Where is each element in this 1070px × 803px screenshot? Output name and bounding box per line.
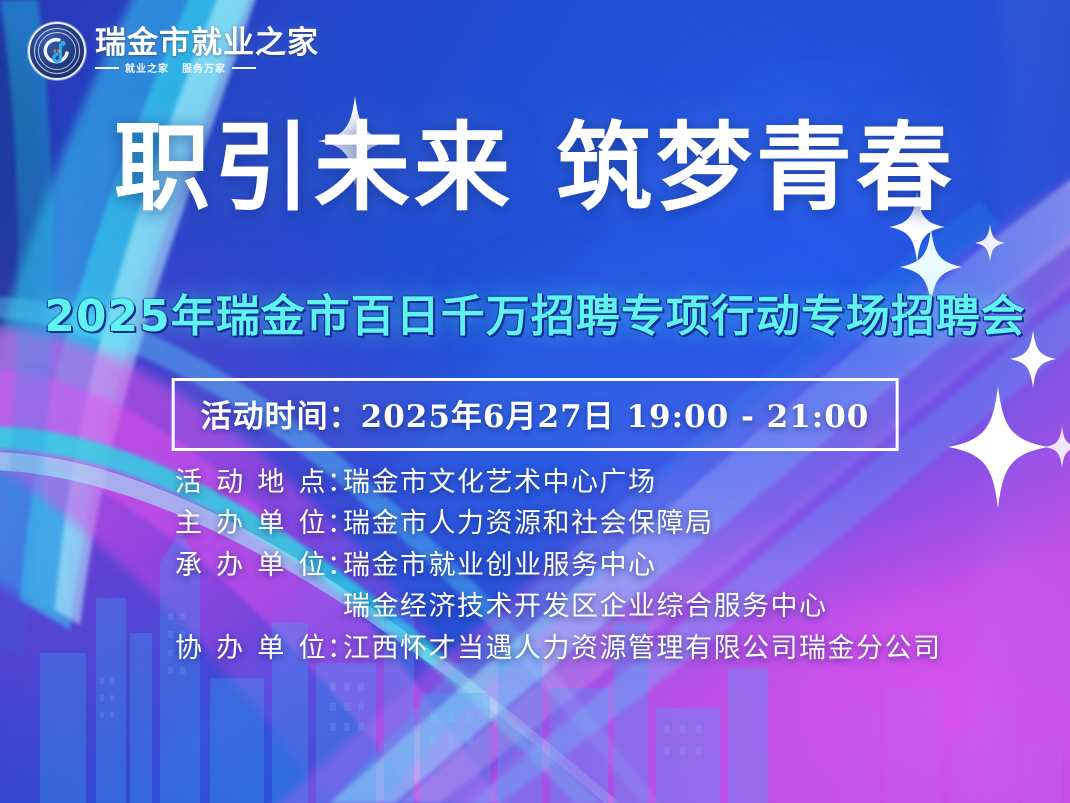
tagline-right: 服务万家 (182, 60, 226, 75)
info-row-coorganizer: 协办单位 ： 江西怀才当遇人力资源管理有限公司瑞金分公司 (175, 632, 895, 665)
poster-canvas: RJS 瑞金市就业之家 就业之家 服务万家 职引未来筑梦青春 2025年瑞金市百… (0, 0, 1070, 803)
info-value: 瑞金市就业创业服务中心 (343, 549, 895, 582)
tagline-rule-left (95, 67, 119, 69)
info-value: 瑞金市文化艺术中心广场 (343, 466, 895, 499)
brand-tagline: 就业之家 服务万家 (95, 60, 319, 75)
info-label: 承办单位 (175, 549, 327, 582)
brand-title: 瑞金市就业之家 (95, 27, 319, 60)
brand-logo: RJS 瑞金市就业之家 就业之家 服务万家 (28, 22, 319, 80)
info-label: 活动地点 (175, 466, 327, 499)
tagline-left: 就业之家 (125, 60, 169, 75)
info-row-organizer: 主办单位 ： 瑞金市人力资源和社会保障局 (175, 507, 895, 540)
info-row-venue: 活动地点 ： 瑞金市文化艺术中心广场 (175, 466, 895, 499)
svg-text:RJS: RJS (53, 49, 60, 55)
headline-part-1: 职引未来 (114, 112, 514, 224)
info-row-host-second: 承办单位 ： 瑞金经济技术开发区企业综合服务中心 (175, 590, 895, 623)
info-value: 瑞金经济技术开发区企业综合服务中心 (343, 590, 895, 623)
info-colon: ： (327, 507, 343, 540)
info-row-host: 承办单位 ： 瑞金市就业创业服务中心 (175, 549, 895, 582)
info-colon: ： (327, 549, 343, 582)
headline-part-2: 筑梦青春 (556, 112, 956, 224)
tagline-rule-right (232, 67, 256, 69)
info-colon: ： (327, 466, 343, 499)
info-value: 江西怀才当遇人力资源管理有限公司瑞金分公司 (343, 632, 942, 665)
info-label: 协办单位 (175, 632, 327, 665)
event-time-text: 活动时间：2025年6月27日 19:00 - 21:00 (201, 391, 870, 436)
circular-emblem-icon: RJS (28, 22, 86, 80)
info-label: 主办单位 (175, 507, 327, 540)
page-title: 职引未来筑梦青春 (0, 118, 1070, 219)
page-subtitle: 2025年瑞金市百日千万招聘专项行动专场招聘会 (0, 280, 1070, 344)
event-time-box: 活动时间：2025年6月27日 19:00 - 21:00 (172, 378, 899, 451)
info-value: 瑞金市人力资源和社会保障局 (343, 507, 895, 540)
event-info-list: 活动地点 ： 瑞金市文化艺术中心广场 主办单位 ： 瑞金市人力资源和社会保障局 … (175, 466, 895, 665)
info-colon: ： (327, 632, 343, 665)
